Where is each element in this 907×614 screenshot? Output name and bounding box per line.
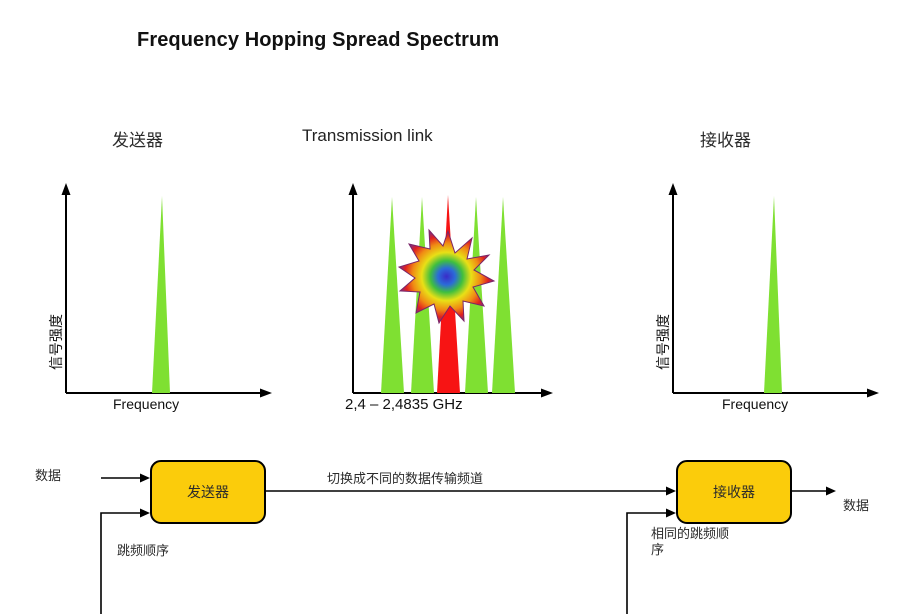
label-data-input: 数据: [35, 465, 61, 484]
label-hop-sequence-right: 相同的跳频顺序: [651, 527, 735, 560]
arrow-hop-sequence-left: [101, 509, 150, 614]
label-channel-switching: 切换成不同的数据传输频道: [327, 468, 483, 487]
arrow-hop-sequence-right: [627, 509, 676, 614]
arrow-data-in: [101, 474, 150, 483]
block-receiver-label: 接收器: [713, 482, 755, 502]
block-receiver[interactable]: 接收器: [676, 460, 792, 524]
block-transmitter[interactable]: 发送器: [150, 460, 266, 524]
label-hop-sequence-left: 跳频顺序: [117, 540, 169, 559]
arrow-transmission-link: [262, 487, 676, 496]
label-data-output: 数据: [843, 495, 869, 514]
diagram-canvas: Frequency Hopping Spread Spectrum 发送器 Tr…: [0, 0, 907, 614]
block-transmitter-label: 发送器: [187, 482, 229, 502]
arrow-data-out: [788, 487, 836, 496]
